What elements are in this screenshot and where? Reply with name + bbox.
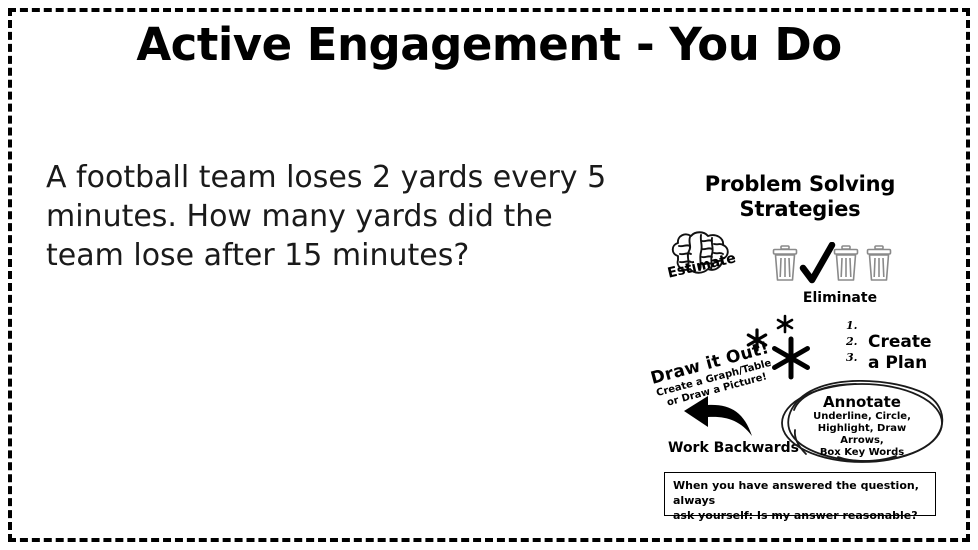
annotate-sub-2: Highlight, Draw Arrows, xyxy=(796,423,928,447)
slide: Active Engagement - You Do A football te… xyxy=(0,0,978,550)
plan-number-2: 2. xyxy=(846,334,857,350)
problem-solving-strategies-graphic: Problem Solving Strategies xyxy=(650,172,950,520)
reasonableness-reminder-box: When you have answered the question, alw… xyxy=(664,472,936,516)
problem-statement-text: A football team loses 2 yards every 5 mi… xyxy=(46,158,626,275)
create-a-plan-line-1: Create xyxy=(868,332,932,353)
strategy-create-a-plan: 1. 2. 3. Create a Plan xyxy=(846,318,950,384)
page-title: Active Engagement - You Do xyxy=(0,20,978,70)
strategy-label-eliminate: Eliminate xyxy=(770,290,910,306)
numbered-list-icon: 1. 2. 3. xyxy=(846,318,857,366)
graphic-title-line-2: Strategies xyxy=(650,197,950,222)
reminder-line-2: ask yourself: Is my answer reasonable? xyxy=(673,508,927,523)
trash-can-icon-group xyxy=(770,242,910,288)
annotate-title: Annotate xyxy=(796,394,928,411)
plan-number-1: 1. xyxy=(846,318,857,334)
strategy-label-create-a-plan: Create a Plan xyxy=(868,332,932,374)
annotate-sub-1: Underline, Circle, xyxy=(796,411,928,423)
reminder-line-1: When you have answered the question, alw… xyxy=(673,478,927,508)
annotate-block: Annotate Underline, Circle, Highlight, D… xyxy=(776,380,948,466)
plan-number-3: 3. xyxy=(846,350,857,366)
annotate-sub-3: Box Key Words xyxy=(796,447,928,459)
strategy-label-annotate: Annotate Underline, Circle, Highlight, D… xyxy=(796,394,928,459)
curved-left-arrow-icon xyxy=(682,394,754,440)
create-a-plan-line-2: a Plan xyxy=(868,353,932,374)
graphic-title: Problem Solving Strategies xyxy=(650,172,950,222)
check-mark-icon xyxy=(803,245,832,280)
graphic-title-line-1: Problem Solving xyxy=(650,172,950,197)
